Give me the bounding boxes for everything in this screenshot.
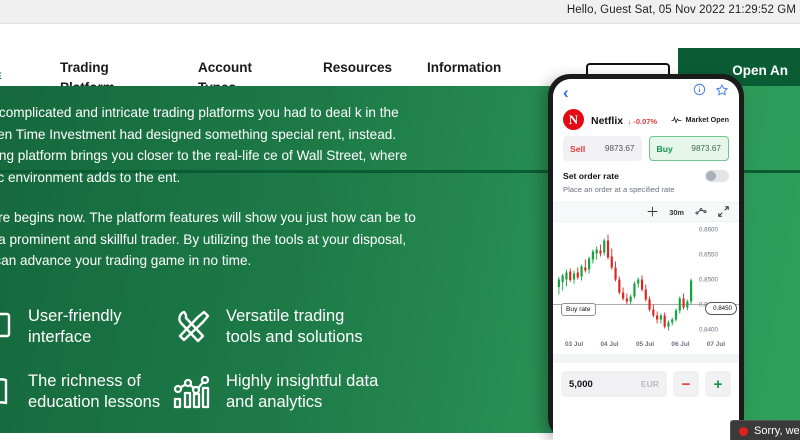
expand-icon[interactable]	[718, 206, 729, 219]
x-axis-tick: 03 Jul	[565, 341, 583, 348]
x-axis-tick: 04 Jul	[600, 341, 618, 348]
candlestick-chart[interactable]: 0.86000.85500.85000.84500.8400 Buy rate …	[553, 222, 739, 337]
feature-label: User-friendly interface	[28, 306, 122, 348]
tools-icon	[168, 304, 214, 350]
monitor-icon	[0, 304, 16, 350]
asset-name: Netflix	[591, 115, 623, 127]
app-header-actions	[693, 83, 729, 102]
amount-decrease-button[interactable]: −	[673, 371, 699, 397]
buy-button[interactable]: Buy 9873.67	[649, 136, 730, 161]
x-axis-tick: 07 Jul	[707, 341, 725, 348]
buy-label: Buy	[657, 144, 673, 154]
svg-text:0.8500: 0.8500	[699, 277, 718, 284]
buy-price: 9873.67	[691, 144, 721, 153]
crosshair-icon[interactable]	[647, 206, 658, 219]
market-status-label: Market Open	[685, 115, 729, 124]
feature-list: User-friendly interface Versatile tradin…	[0, 304, 430, 433]
netflix-logo-icon: N	[563, 109, 584, 130]
order-rate-title: Set order rate	[563, 171, 619, 181]
market-status: Market Open	[671, 115, 729, 124]
info-icon[interactable]	[693, 83, 706, 101]
nav-item-label-line1: Trading	[60, 60, 109, 75]
amount-input[interactable]: 5,000 EUR	[561, 371, 667, 397]
x-axis-tick: 05 Jul	[636, 341, 654, 348]
feature-item-user-friendly: User-friendly interface	[0, 304, 122, 350]
nav-item-label-line1: Account	[198, 60, 252, 75]
pulse-icon	[671, 115, 682, 124]
star-icon[interactable]	[715, 83, 729, 102]
offline-chat-widget[interactable]: Sorry, we are offlin	[730, 420, 800, 440]
chart-toolbar: 30m	[553, 202, 739, 222]
asset-summary: N Netflix ↓ -0.07% Market Open	[553, 105, 739, 136]
greeting-text: Hello, Guest Sat, 05 Nov 2022 21:29:52 G…	[567, 4, 796, 16]
amount-value: 5,000	[569, 379, 593, 390]
order-rate-subtitle: Place an order at a specified rate	[563, 185, 729, 194]
hero-paragraph-1: bout the complicated and intricate tradi…	[0, 102, 416, 188]
sell-button[interactable]: Sell 9873.67	[563, 136, 642, 161]
feature-item-analytics: Highly insightful data and analytics	[168, 369, 378, 415]
chevron-left-icon[interactable]: ‹	[563, 84, 569, 101]
amount-currency: EUR	[641, 379, 659, 389]
svg-text:0.8550: 0.8550	[699, 252, 718, 259]
logo-line-1: N TIME	[0, 72, 58, 82]
utility-topbar: Hello, Guest Sat, 05 Nov 2022 21:29:52 G…	[0, 0, 800, 24]
order-rate-section: Set order rate Place an order at a speci…	[553, 161, 739, 202]
app-header: ‹	[553, 79, 739, 105]
indicator-icon[interactable]	[695, 206, 707, 218]
section-separator	[553, 354, 739, 363]
svg-text:0.8400: 0.8400	[699, 327, 718, 334]
current-price-tag: 0.8450	[705, 302, 737, 315]
phone-mockup: ‹ N Netflix	[548, 74, 744, 440]
page-root: Hello, Guest Sat, 05 Nov 2022 21:29:52 G…	[0, 0, 800, 440]
hero-copy: bout the complicated and intricate tradi…	[0, 102, 416, 272]
sell-label: Sell	[570, 144, 585, 154]
asset-change: ↓ -0.07%	[628, 117, 658, 126]
sell-price: 9873.67	[605, 144, 635, 153]
amount-section: 5,000 EUR − +	[553, 363, 739, 405]
nav-item-label-line1: Resources	[323, 60, 392, 75]
amount-increase-button[interactable]: +	[705, 371, 731, 397]
phone-screen: ‹ N Netflix	[553, 79, 739, 440]
order-rate-header: Set order rate	[563, 170, 729, 182]
feature-label: Versatile trading tools and solutions	[226, 306, 363, 348]
svg-text:0.8600: 0.8600	[699, 227, 718, 234]
x-axis-tick: 06 Jul	[671, 341, 689, 348]
chart-x-axis: 03 Jul04 Jul05 Jul06 Jul07 Jul	[553, 337, 739, 354]
timeframe-selector[interactable]: 30m	[669, 208, 684, 217]
trade-buttons: Sell 9873.67 Buy 9873.67	[553, 136, 739, 161]
chart-canvas: 0.86000.85500.85000.84500.8400	[553, 222, 739, 337]
feature-item-education: The richness of education lessons	[0, 369, 160, 415]
feature-item-versatile-tools: Versatile trading tools and solutions	[168, 304, 363, 350]
hero-paragraph-2: ding future begins now. The platform fea…	[0, 207, 416, 272]
feature-label: Highly insightful data and analytics	[226, 371, 378, 413]
buy-rate-label: Buy rate	[561, 303, 596, 316]
book-icon	[0, 369, 16, 415]
feature-row: User-friendly interface Versatile tradin…	[0, 304, 430, 369]
feature-label: The richness of education lessons	[28, 371, 160, 413]
asset-identity: Netflix ↓ -0.07%	[591, 111, 657, 129]
analytics-chart-icon	[168, 369, 214, 415]
feature-row: The richness of education lessons	[0, 369, 430, 433]
offline-status-dot	[739, 427, 748, 436]
offline-chat-label: Sorry, we are offlin	[754, 425, 800, 437]
nav-item-label-line1: Information	[427, 60, 501, 75]
order-rate-toggle[interactable]	[705, 170, 729, 182]
